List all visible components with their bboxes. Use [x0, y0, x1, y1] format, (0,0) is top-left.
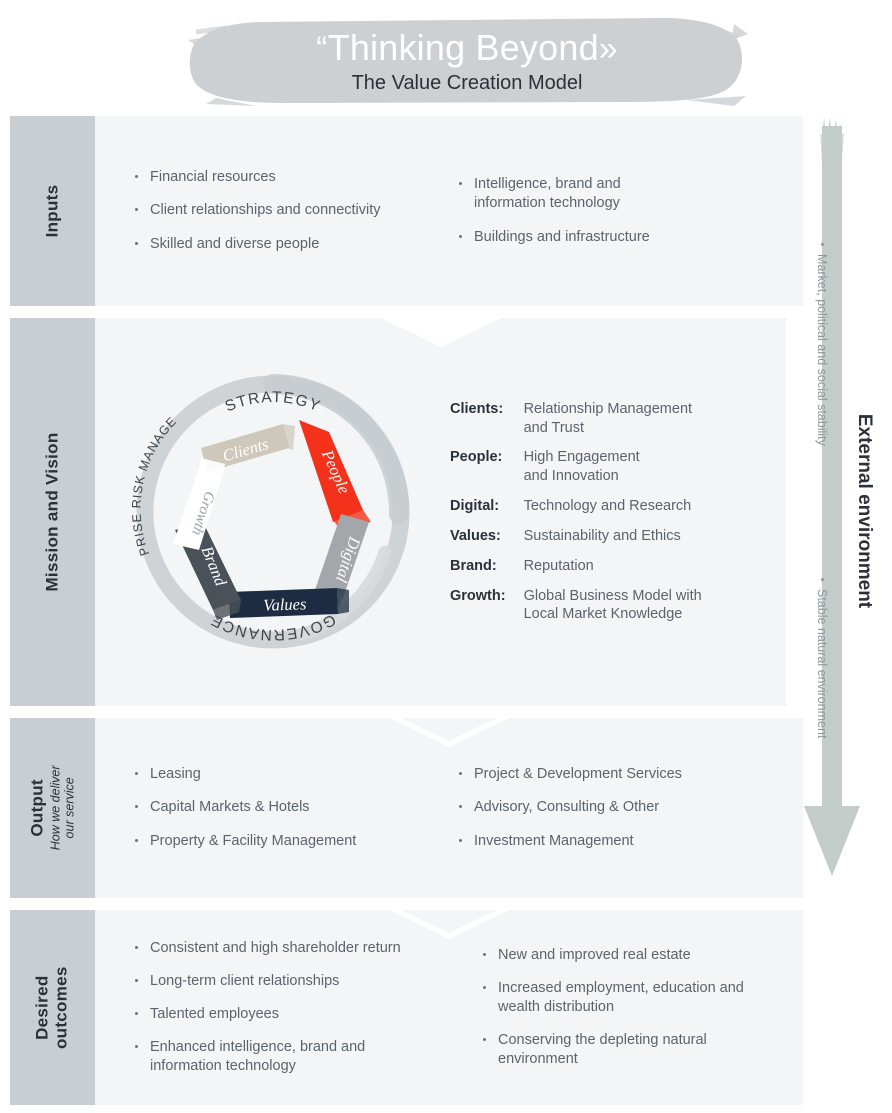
definition-value: Technology and Research: [524, 497, 702, 527]
section-label-title: Desiredoutcomes: [34, 966, 71, 1049]
section-label-subtitle: How we deliverour service: [49, 766, 78, 851]
definition-key: People:: [450, 448, 524, 497]
list-item: Intelligence, brand and information tech…: [457, 175, 647, 213]
outcomes-column-right: New and improved real estate Increased e…: [439, 910, 789, 1105]
list-item: Financial resources: [133, 168, 439, 187]
list-item-label: Increased employment, education and weal…: [498, 980, 744, 1015]
list-item-label: Property & Facility Management: [150, 833, 356, 849]
bullet-dot-icon: [135, 805, 138, 808]
section-label-title: Mission and Vision: [43, 432, 63, 591]
list-item: Investment Management: [457, 832, 789, 851]
value-wheel-diagram: STRATEGY GOVERNANCE ENTERPRISE RISK MANA…: [95, 362, 450, 662]
inputs-list-right: Intelligence, brand and information tech…: [457, 175, 789, 246]
list-item-label: Consistent and high shareholder return: [150, 940, 401, 956]
list-item-label: Long-term client relationships: [150, 973, 339, 989]
value-creation-model-infographic: “Thinking Beyond» The Value Creation Mod…: [0, 0, 892, 1113]
definition-key: Brand:: [450, 557, 524, 587]
definitions-table: Clients: Relationship Managementand Trus…: [450, 400, 702, 625]
bullet-dot-icon: [135, 979, 138, 982]
section-label-output: Output How we deliverour service: [10, 718, 95, 898]
section-label-desired-outcomes: Desiredoutcomes: [10, 910, 95, 1105]
list-item: New and improved real estate: [481, 946, 789, 965]
definition-key: Clients:: [450, 400, 524, 449]
bullet-dot-icon: [459, 772, 462, 775]
section-body-inputs: Financial resources Client relationships…: [95, 116, 803, 306]
inputs-list-left: Financial resources Client relationships…: [133, 168, 439, 253]
list-item-label: Financial resources: [150, 169, 276, 185]
downward-arrow-icon: [796, 116, 892, 906]
bullet-dot-icon: [135, 175, 138, 178]
page-subtitle: The Value Creation Model: [352, 72, 583, 95]
bullet-dot-icon: [821, 578, 824, 581]
page-title: “Thinking Beyond»: [316, 29, 618, 68]
list-item: Long-term client relationships: [133, 972, 439, 991]
list-item: Leasing: [133, 765, 439, 784]
list-item: Talented employees: [133, 1005, 439, 1024]
definition-value: Relationship Managementand Trust: [524, 400, 702, 449]
external-environment-label: External environment: [853, 414, 875, 608]
list-item-label: Capital Markets & Hotels: [150, 799, 310, 815]
list-item-label: Enhanced intelligence, brand and informa…: [150, 1039, 365, 1074]
section-desired-outcomes: Desiredoutcomes Consistent and high shar…: [10, 910, 786, 1105]
list-item-label: Conserving the depleting natural environ…: [498, 1032, 707, 1067]
title-close-quote: »: [599, 30, 618, 68]
table-row: Clients: Relationship Managementand Trus…: [450, 400, 702, 449]
output-column-left: Leasing Capital Markets & Hotels Propert…: [109, 718, 439, 898]
bullet-dot-icon: [483, 986, 486, 989]
output-list-left: Leasing Capital Markets & Hotels Propert…: [133, 765, 439, 850]
list-item-label: Skilled and diverse people: [150, 236, 319, 252]
bullet-dot-icon: [459, 805, 462, 808]
list-item-label: Advisory, Consulting & Other: [474, 799, 659, 815]
section-label-inputs: Inputs: [10, 116, 95, 306]
bullet-dot-icon: [483, 1038, 486, 1041]
bullet-dot-icon: [135, 242, 138, 245]
list-item: Consistent and high shareholder return: [133, 939, 439, 958]
list-item: Advisory, Consulting & Other: [457, 798, 789, 817]
definition-value: Global Business Model withLocal Market K…: [524, 587, 702, 625]
bullet-dot-icon: [459, 839, 462, 842]
list-item: Increased employment, education and weal…: [481, 979, 753, 1017]
definition-key: Growth:: [450, 587, 524, 625]
list-item: Property & Facility Management: [133, 832, 439, 851]
list-item-label: New and improved real estate: [498, 947, 691, 963]
section-output: Output How we deliverour service Leasing…: [10, 718, 786, 898]
external-environment-column: Market, political and social stability S…: [796, 116, 892, 906]
list-item: Project & Development Services: [457, 765, 789, 784]
external-item-label: Market, political and social stability: [815, 254, 829, 446]
table-row: People: High Engagementand Innovation: [450, 448, 702, 497]
section-label-title: Inputs: [42, 185, 62, 238]
table-row: Growth: Global Business Model withLocal …: [450, 587, 702, 625]
bullet-dot-icon: [135, 1012, 138, 1015]
outcomes-column-left: Consistent and high shareholder return L…: [109, 910, 439, 1105]
definition-value: High Engagementand Innovation: [524, 448, 702, 497]
bullet-dot-icon: [135, 208, 138, 211]
bullet-dot-icon: [135, 1045, 138, 1048]
list-item-label: Talented employees: [150, 1006, 279, 1022]
section-label-title: Output: [28, 766, 48, 851]
header-banner: “Thinking Beyond» The Value Creation Mod…: [186, 14, 748, 106]
inputs-column-right: Intelligence, brand and information tech…: [439, 116, 789, 306]
table-row: Values: Sustainability and Ethics: [450, 527, 702, 557]
bullet-dot-icon: [459, 182, 462, 185]
section-body-mission-and-vision: STRATEGY GOVERNANCE ENTERPRISE RISK MANA…: [95, 318, 786, 706]
external-item-1: Market, political and social stability: [815, 243, 829, 446]
list-item: Client relationships and connectivity: [133, 201, 439, 220]
list-item-label: Client relationships and connectivity: [150, 202, 381, 218]
list-item-label: Buildings and infrastructure: [474, 229, 650, 245]
inputs-column-left: Financial resources Client relationships…: [109, 116, 439, 306]
chevron-down-icon: [379, 317, 503, 351]
value-wheel-svg: STRATEGY GOVERNANCE ENTERPRISE RISK MANA…: [123, 362, 423, 662]
section-body-output: Leasing Capital Markets & Hotels Propert…: [95, 718, 803, 898]
definition-value: Reputation: [524, 557, 702, 587]
list-item: Enhanced intelligence, brand and informa…: [133, 1038, 378, 1076]
external-item-2: Stable natural environment: [815, 578, 829, 738]
svg-text:Values: Values: [262, 594, 306, 614]
list-item-label: Investment Management: [474, 833, 634, 849]
table-row: Digital: Technology and Research: [450, 497, 702, 527]
definition-key: Digital:: [450, 497, 524, 527]
section-body-desired-outcomes: Consistent and high shareholder return L…: [95, 910, 803, 1105]
definition-value: Sustainability and Ethics: [524, 527, 702, 557]
list-item: Skilled and diverse people: [133, 235, 439, 254]
wheel-segment-values: Values: [229, 588, 349, 618]
bullet-dot-icon: [483, 953, 486, 956]
bullet-dot-icon: [135, 839, 138, 842]
bullet-dot-icon: [135, 946, 138, 949]
section-label-mission-and-vision: Mission and Vision: [10, 318, 95, 706]
bullet-dot-icon: [821, 243, 824, 246]
external-item-label: Stable natural environment: [815, 589, 829, 738]
title-open-quote: “: [316, 30, 328, 68]
list-item-label: Intelligence, brand and information tech…: [474, 176, 621, 211]
list-item-label: Project & Development Services: [474, 766, 682, 782]
outcomes-list-left: Consistent and high shareholder return L…: [133, 939, 439, 1077]
section-inputs: Inputs Financial resources Client relati…: [10, 116, 786, 306]
bullet-dot-icon: [135, 772, 138, 775]
list-item: Capital Markets & Hotels: [133, 798, 439, 817]
output-column-right: Project & Development Services Advisory,…: [439, 718, 789, 898]
list-item-label: Leasing: [150, 766, 201, 782]
outcomes-list-right: New and improved real estate Increased e…: [481, 946, 789, 1070]
section-mission-and-vision: Mission and Vision: [10, 318, 786, 706]
output-list-right: Project & Development Services Advisory,…: [457, 765, 789, 850]
table-row: Brand: Reputation: [450, 557, 702, 587]
title-main-text: Thinking Beyond: [328, 27, 599, 68]
list-item: Buildings and infrastructure: [457, 228, 789, 247]
list-item: Conserving the depleting natural environ…: [481, 1031, 789, 1069]
bullet-dot-icon: [459, 235, 462, 238]
definition-key: Values:: [450, 527, 524, 557]
value-definitions: Clients: Relationship Managementand Trus…: [450, 400, 786, 625]
